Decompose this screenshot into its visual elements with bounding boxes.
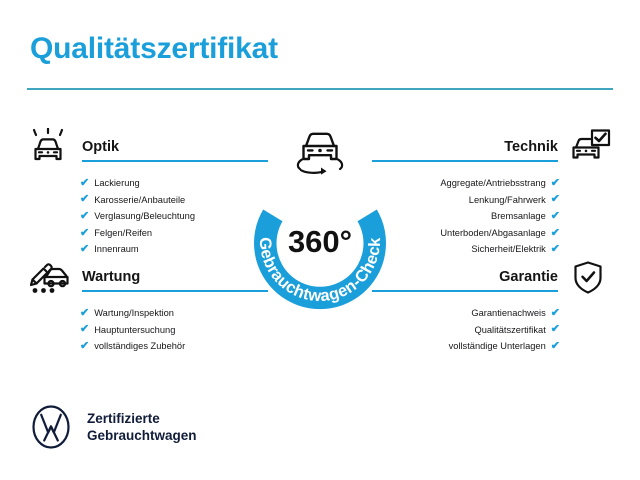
title-divider [27,88,613,90]
check-icon: ✔ [551,324,560,335]
check-list-wartung: ✔Wartung/Inspektion ✔Hauptuntersuchung ✔… [26,305,254,355]
list-item-label: Hauptuntersuchung [94,322,175,339]
check-icon: ✔ [80,194,89,205]
list-item: ✔Lackierung [80,175,254,192]
list-item: ✔Verglasung/Beleuchtung [80,208,254,225]
vw-logo-icon [28,404,74,450]
list-item-label: Innenraum [94,241,138,258]
car-front-rotate-icon [283,126,357,176]
list-item: ✔vollständiges Zubehör [80,338,254,355]
section-header-wartung: Wartung [26,258,254,298]
section-header-technik: Technik [386,128,614,168]
check-icon: ✔ [551,244,560,255]
check-icon: ✔ [551,211,560,222]
section-technik: Technik Aggregate/Antriebsstrang✔ Lenkun… [386,128,614,258]
list-item-label: Felgen/Reifen [94,225,152,242]
list-item: ✔Wartung/Inspektion [80,305,254,322]
check-icon: ✔ [80,211,89,222]
check-icon: ✔ [551,341,560,352]
footer-line-2: Gebrauchtwagen [87,428,197,443]
list-item-label: Garantienachweis [471,305,545,322]
list-item: vollständige Unterlagen✔ [386,338,560,355]
page-title: Qualitätszertifikat [30,32,278,66]
footer-text: Zertifizierte Gebrauchtwagen [87,410,197,444]
list-item-label: Unterboden/Abgasanlage [440,225,545,242]
pen-car-service-icon [26,258,74,298]
section-header-optik: Optik [26,128,254,168]
check-list-technik: Aggregate/Antriebsstrang✔ Lenkung/Fahrwe… [386,175,614,258]
list-item: Unterboden/Abgasanlage✔ [386,225,560,242]
list-item: Garantienachweis✔ [386,305,560,322]
list-item-label: Bremsanlage [491,208,546,225]
list-item: Bremsanlage✔ [386,208,560,225]
list-item: Aggregate/Antriebsstrang✔ [386,175,560,192]
check-icon: ✔ [80,244,89,255]
list-item-label: Aggregate/Antriebsstrang [440,175,545,192]
badge-center-label: 360° [288,224,352,259]
section-title-garantie: Garantie [499,269,558,285]
car-checkbox-icon [566,128,614,168]
check-list-garantie: Garantienachweis✔ Qualitätszertifikat✔ v… [386,305,614,355]
section-wartung: Wartung ✔Wartung/Inspektion ✔Hauptunters… [26,258,254,355]
list-item-label: vollständiges Zubehör [94,338,185,355]
vw-certified-lockup: Zertifizierte Gebrauchtwagen [28,404,197,450]
badge-360-gebrauchtwagen-check: 360° Gebrauchtwagen-Check [239,160,401,322]
check-list-optik: ✔Lackierung ✔Karosserie/Anbauteile ✔Verg… [26,175,254,258]
check-icon: ✔ [80,341,89,352]
footer-line-1: Zertifizierte [87,411,160,426]
list-item-label: vollständige Unterlagen [449,338,546,355]
check-icon: ✔ [80,324,89,335]
list-item: ✔Felgen/Reifen [80,225,254,242]
list-item: Sicherheit/Elektrik✔ [386,241,560,258]
check-icon: ✔ [551,228,560,239]
section-header-garantie: Garantie [386,258,614,298]
check-icon: ✔ [80,228,89,239]
list-item: Lenkung/Fahrwerk✔ [386,192,560,209]
list-item: ✔Hauptuntersuchung [80,322,254,339]
check-icon: ✔ [551,308,560,319]
section-garantie: Garantie Garantienachweis✔ Qualitätszert… [386,258,614,355]
list-item-label: Karosserie/Anbauteile [94,192,185,209]
section-optik: Optik ✔Lackierung ✔Karosserie/Anbauteile… [26,128,254,258]
list-item-label: Wartung/Inspektion [94,305,174,322]
list-item: ✔Innenraum [80,241,254,258]
section-title-optik: Optik [82,139,119,155]
list-item-label: Lackierung [94,175,139,192]
list-item-label: Qualitätszertifikat [474,322,545,339]
list-item: Qualitätszertifikat✔ [386,322,560,339]
list-item-label: Sicherheit/Elektrik [471,241,545,258]
car-shine-icon [26,128,74,168]
section-title-technik: Technik [504,139,558,155]
list-item: ✔Karosserie/Anbauteile [80,192,254,209]
check-icon: ✔ [80,308,89,319]
check-icon: ✔ [551,194,560,205]
list-item-label: Lenkung/Fahrwerk [469,192,546,209]
check-icon: ✔ [551,178,560,189]
check-icon: ✔ [80,178,89,189]
shield-check-icon [566,258,614,298]
section-title-wartung: Wartung [82,269,140,285]
list-item-label: Verglasung/Beleuchtung [94,208,195,225]
